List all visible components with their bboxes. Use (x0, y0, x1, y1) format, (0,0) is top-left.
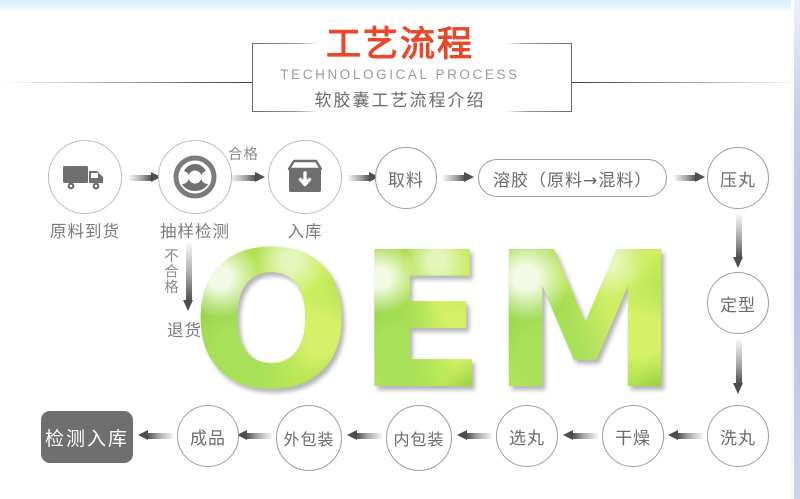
caption-raw-material-arrival: 原料到货 (35, 218, 135, 242)
node-inspection-storage[interactable]: 检测入库 (41, 411, 133, 463)
oem-letter-m: M (492, 237, 679, 407)
arrow-fail-to-return (183, 243, 194, 311)
node-take-material[interactable]: 取料 (375, 147, 437, 209)
page-title-english: TECHNOLOGICAL PROCESS (0, 67, 800, 83)
arrow-outer-to-finished (237, 430, 272, 441)
node-outer-packaging[interactable]: 外包装 (276, 405, 342, 471)
node-press-pill[interactable]: 压丸 (707, 147, 769, 209)
arrow-drying-to-select (563, 430, 598, 441)
node-sol-gel[interactable]: 溶胶（原料→混料） (478, 159, 667, 197)
node-raw-material-arrival[interactable] (48, 140, 122, 214)
arrow-take-to-solgel (443, 172, 474, 183)
node-drying[interactable]: 干燥 (602, 405, 664, 467)
arrow-wash-to-drying (668, 430, 703, 441)
arrow-finished-to-storage (138, 430, 173, 441)
arrow-arrival-to-inspection (129, 172, 161, 183)
page-header: 工艺流程 TECHNOLOGICAL PROCESS 软胶囊工艺流程介绍 (0, 12, 800, 122)
arrow-inner-to-outer (347, 430, 382, 441)
arrow-inspection-to-warehouse (231, 172, 265, 183)
truck-icon (62, 162, 108, 192)
oem-letter-e: E (357, 237, 485, 407)
oem-watermark: O E M (175, 232, 695, 412)
oem-letter-o: O (191, 237, 351, 407)
branch-label-pass: 合格 (228, 143, 259, 164)
arrow-solgel-to-press (674, 172, 705, 183)
page-title: 工艺流程 (0, 26, 800, 64)
arrow-select-to-inner (457, 430, 492, 441)
arrow-press-to-shaping (733, 214, 744, 268)
branch-label-fail: 不合格 (160, 248, 181, 310)
process-flow-infographic: 工艺流程 TECHNOLOGICAL PROCESS 软胶囊工艺流程介绍 O E… (0, 0, 800, 499)
page-subtitle: 软胶囊工艺流程介绍 (0, 91, 800, 112)
inbox-arrow-down-icon (284, 158, 326, 196)
node-select-pill[interactable]: 选丸 (496, 405, 558, 467)
node-wash-pill[interactable]: 洗丸 (707, 405, 769, 467)
node-finished-product[interactable]: 成品 (177, 405, 239, 467)
caption-warehouse-in: 入库 (260, 218, 350, 242)
caption-sampling-inspection: 抽样检测 (145, 218, 245, 242)
node-return-goods[interactable]: 退货 (167, 317, 202, 341)
node-sampling-inspection[interactable] (158, 140, 232, 214)
node-inner-packaging[interactable]: 内包装 (386, 405, 452, 471)
top-gradient-band (0, 0, 800, 11)
node-shaping[interactable]: 定型 (707, 272, 769, 334)
arrow-shaping-to-wash (733, 340, 744, 394)
inspection-icon (173, 155, 217, 199)
node-warehouse-in[interactable] (268, 140, 342, 214)
